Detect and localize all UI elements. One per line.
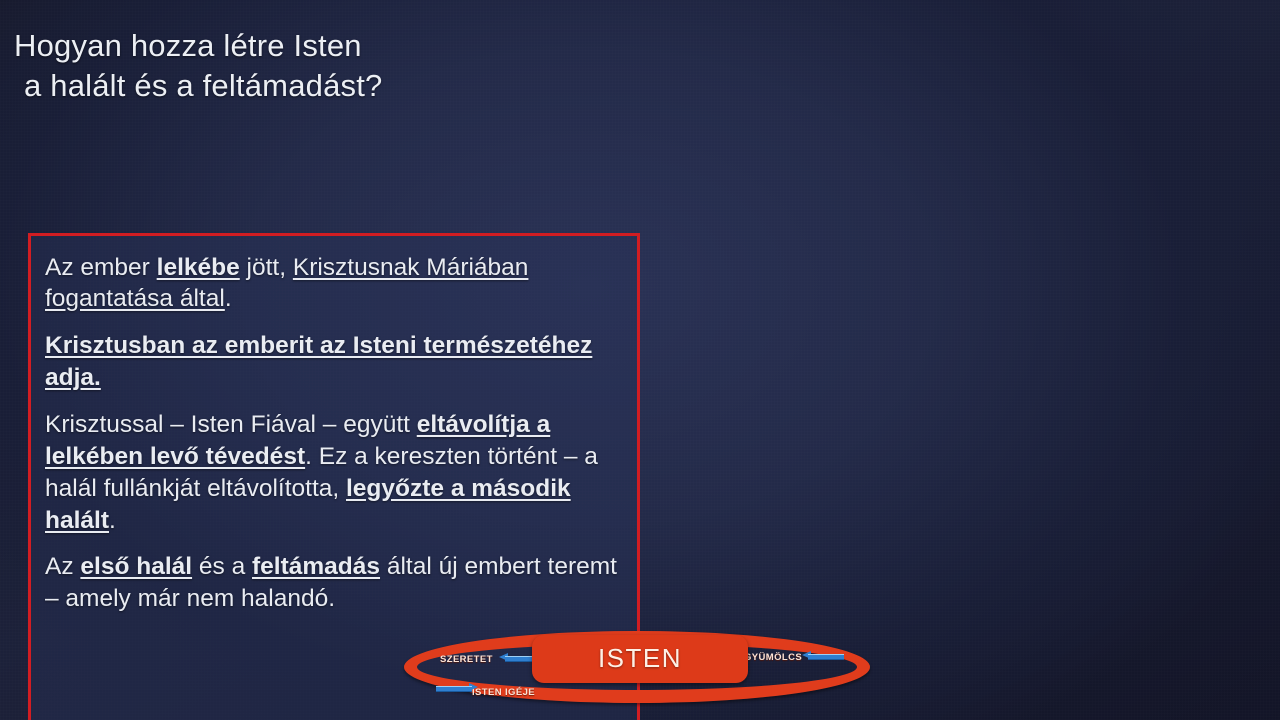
title-line-2: a halált és a feltámadást? <box>14 66 434 106</box>
isten-ellipse-diagram: SZERETET ISTEN IGÉJE GYÜMÖLCS ISTEN <box>404 623 874 711</box>
run-bold-underline: Krisztusban az emberit az Isteni termész… <box>45 332 592 391</box>
run-plain: Az <box>45 553 80 580</box>
paragraph-1: Az ember lelkébe jött, Krisztusnak Máriá… <box>45 252 623 316</box>
page-title: Hogyan hozza létre Isten a halált és a f… <box>14 26 434 107</box>
paragraph-2: Krisztusban az emberit az Isteni termész… <box>45 330 623 394</box>
title-line-1: Hogyan hozza létre Isten <box>14 28 362 63</box>
arrow-right-icon-isten-igeje <box>430 683 478 692</box>
run-bold-underline: lelkébe <box>157 254 240 281</box>
ring-label-isten-igeje: ISTEN IGÉJE <box>472 687 535 698</box>
ring-label-szeretet: SZERETET <box>440 654 493 665</box>
run-plain: . <box>225 285 232 312</box>
run-plain: Krisztussal – Isten Fiával – együtt <box>45 411 417 438</box>
paragraph-4: Az első halál és a feltámadás által új e… <box>45 551 623 615</box>
paragraph-3: Krisztussal – Isten Fiával – együtt eltá… <box>45 409 623 536</box>
run-plain: . <box>109 507 116 534</box>
isten-center-box: ISTEN <box>532 635 748 683</box>
arrow-left-icon-gyumolcs <box>802 651 850 660</box>
ring-label-gyumolcs: GYÜMÖLCS <box>744 652 802 663</box>
run-bold-underline: feltámadás <box>252 553 380 580</box>
run-bold-underline: első halál <box>80 553 192 580</box>
run-plain: és a <box>192 553 252 580</box>
run-plain: jött, <box>240 254 293 281</box>
run-plain: Az ember <box>45 254 157 281</box>
isten-center-label: ISTEN <box>598 643 682 674</box>
slide-canvas: Hogyan hozza létre Isten a halált és a f… <box>0 0 1280 720</box>
